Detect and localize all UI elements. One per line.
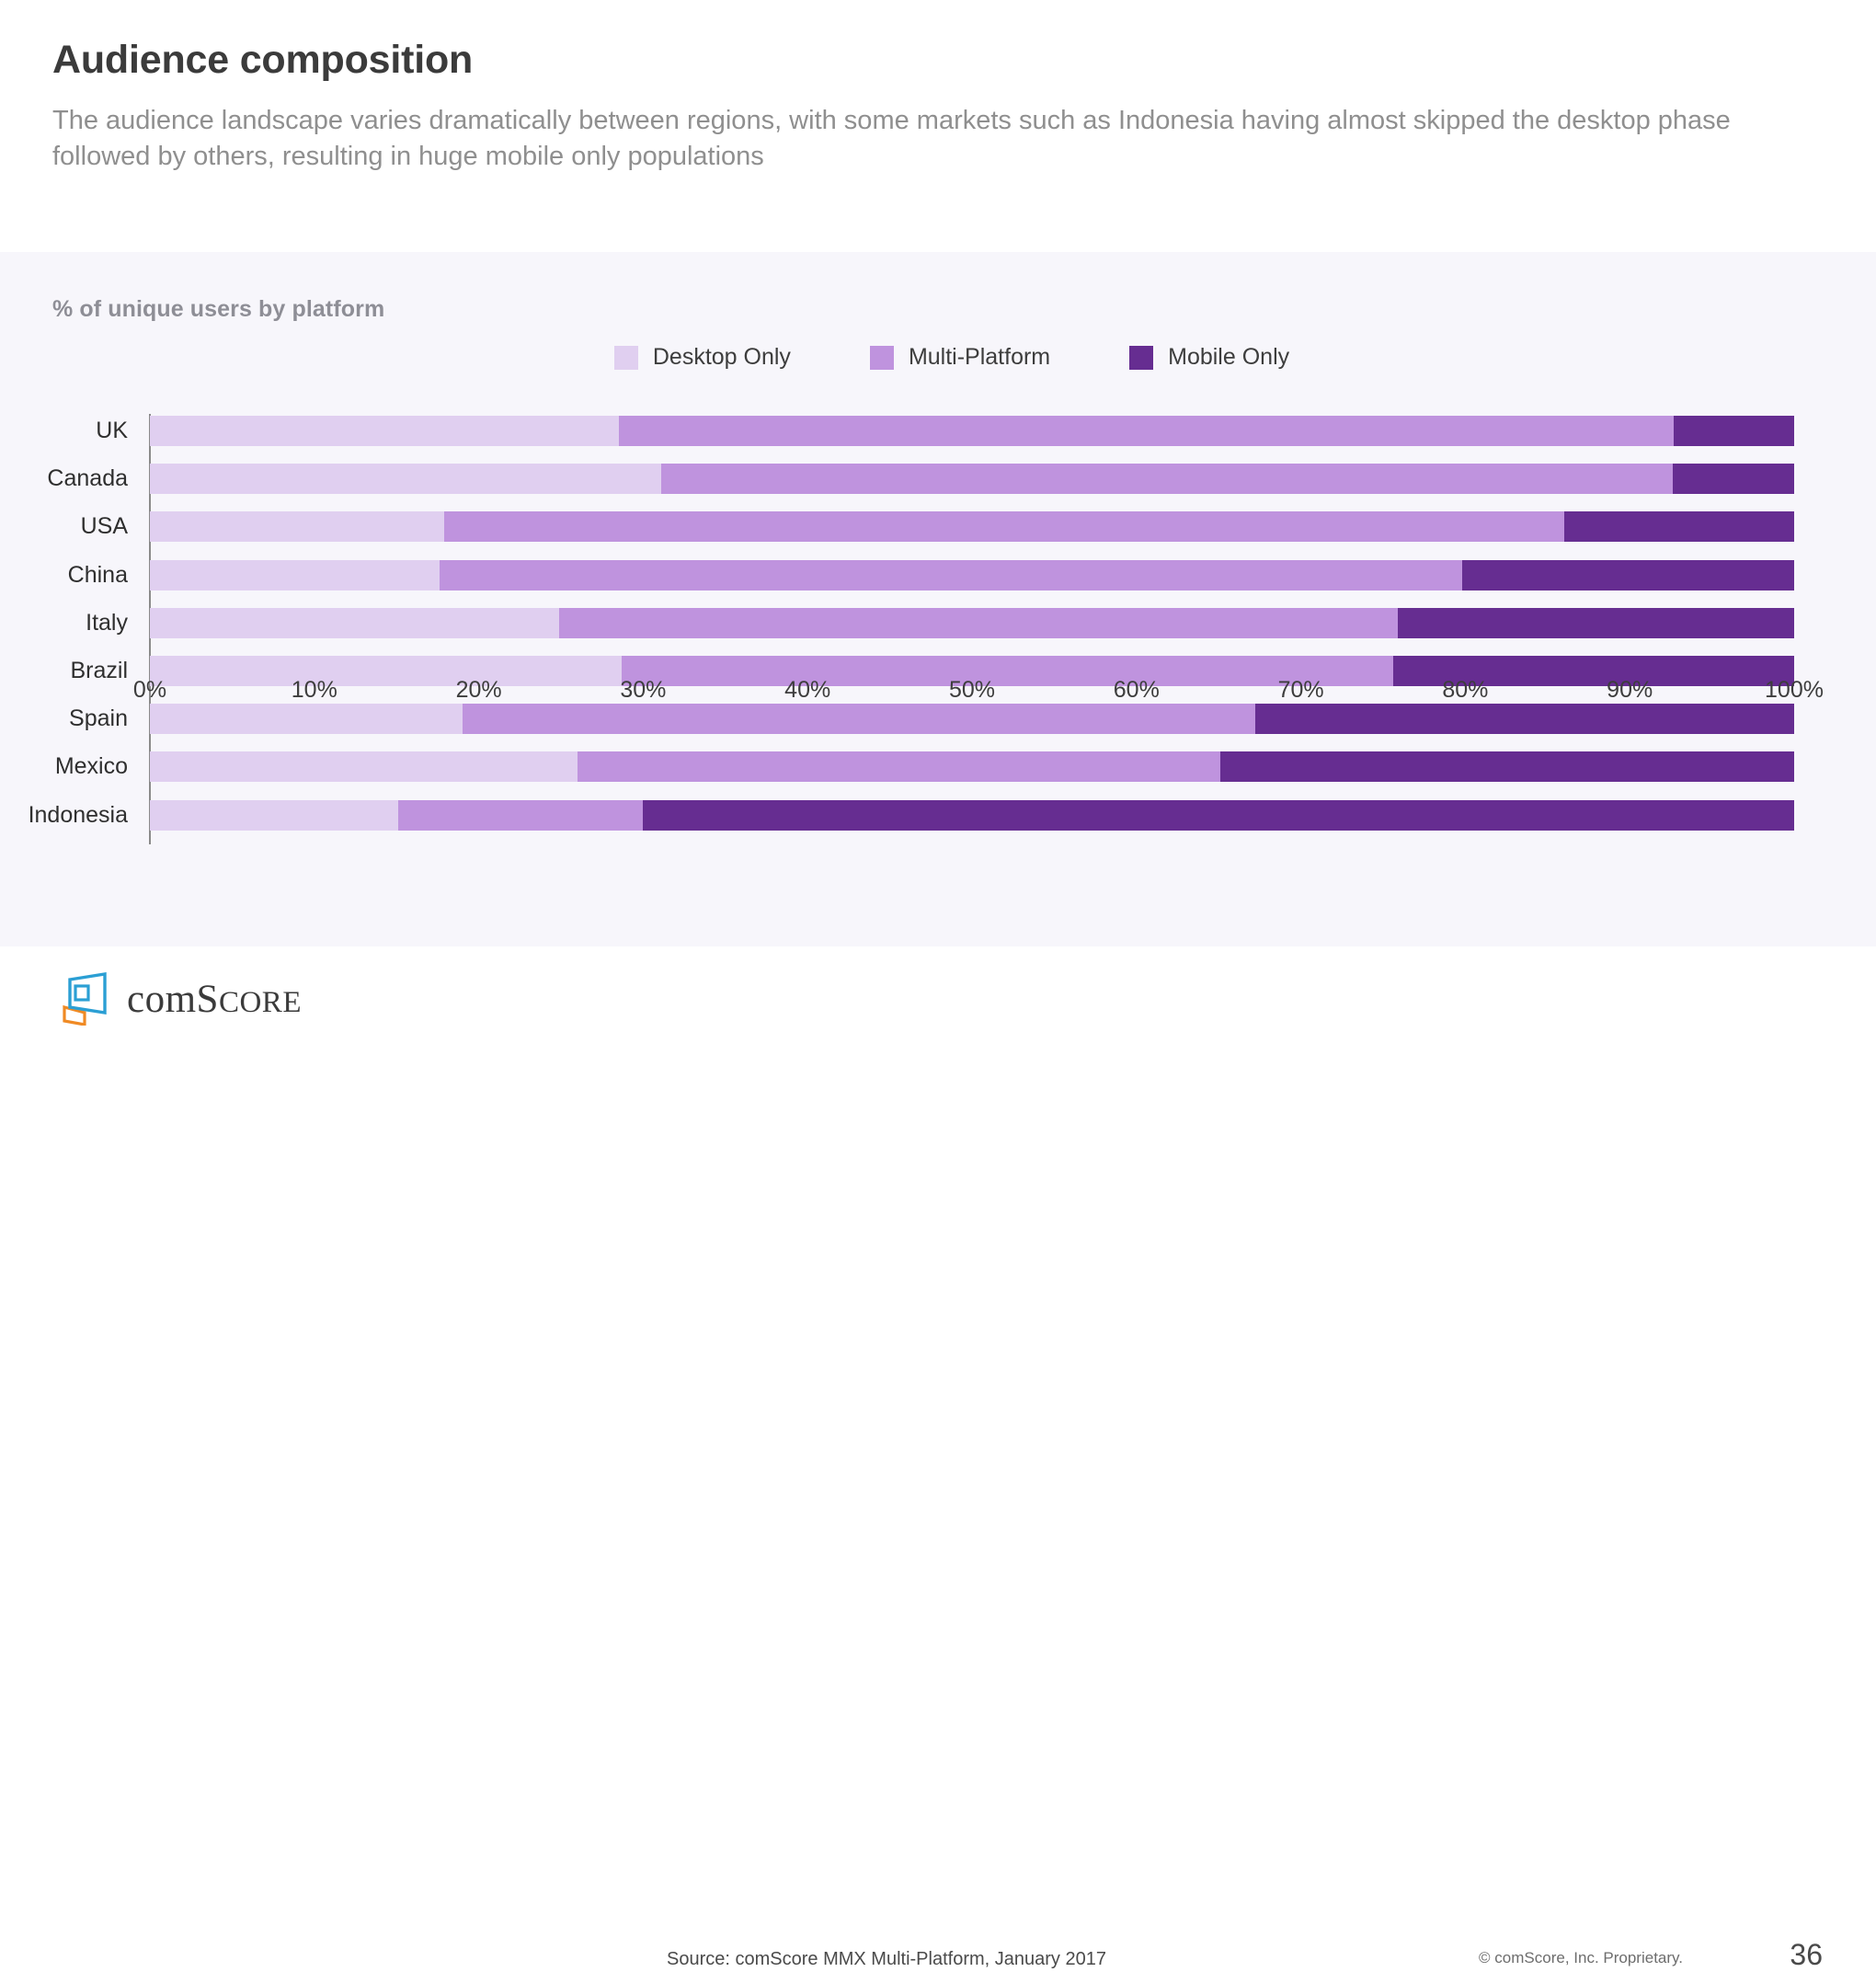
- x-axis-tick: 60%: [1114, 677, 1160, 704]
- bar-row[interactable]: Italy: [150, 608, 1794, 638]
- chart-panel: % of unique users by platform Desktop On…: [0, 252, 1876, 946]
- page-number: 36: [1790, 1938, 1823, 1972]
- source-note: Source: comScore MMX Multi-Platform, Jan…: [667, 1949, 1106, 1970]
- x-axis-tick: 100%: [1765, 677, 1824, 704]
- x-axis-tick: 10%: [292, 677, 337, 704]
- bar-segment-multi-platform[interactable]: [444, 511, 1564, 542]
- comscore-logo: comSCORE: [57, 972, 302, 1026]
- bar-segment-desktop-only[interactable]: [150, 608, 559, 638]
- brand-core: CORE: [219, 986, 302, 1019]
- bar-segment-mobile-only[interactable]: [1462, 560, 1794, 590]
- x-axis-tick: 50%: [949, 677, 995, 704]
- bar-segment-multi-platform[interactable]: [398, 800, 643, 831]
- bar-segment-desktop-only[interactable]: [150, 560, 440, 590]
- y-axis-label-usa: USA: [0, 511, 128, 542]
- bar-rows: UKCanadaUSAChinaItalyBrazilSpainMexicoIn…: [150, 414, 1794, 850]
- bar-segment-multi-platform[interactable]: [578, 751, 1220, 782]
- chart-heading: % of unique users by platform: [52, 296, 384, 323]
- bar-segment-desktop-only[interactable]: [150, 751, 578, 782]
- brand-com: com: [127, 978, 197, 1021]
- page-title: Audience composition: [52, 39, 1825, 81]
- y-axis-label-uk: UK: [0, 416, 128, 446]
- bar-segment-mobile-only[interactable]: [643, 800, 1794, 831]
- y-axis-label-china: China: [0, 560, 128, 590]
- legend-swatch-icon: [870, 346, 894, 370]
- comscore-wordmark: comSCORE: [127, 980, 302, 1019]
- y-axis-label-canada: Canada: [0, 464, 128, 494]
- legend-swatch-icon: [1129, 346, 1153, 370]
- x-axis-tick: 40%: [784, 677, 830, 704]
- bar-segment-desktop-only[interactable]: [150, 416, 619, 446]
- x-axis-tick: 20%: [456, 677, 502, 704]
- legend-item-multi-platform[interactable]: Multi-Platform: [870, 344, 1050, 371]
- bar-row[interactable]: Mexico: [150, 751, 1794, 782]
- chart-plot-area: UKCanadaUSAChinaItalyBrazilSpainMexicoIn…: [150, 414, 1794, 850]
- y-axis-label-italy: Italy: [0, 608, 128, 638]
- bar-segment-desktop-only[interactable]: [150, 464, 661, 494]
- bar-segment-multi-platform[interactable]: [440, 560, 1462, 590]
- bar-segment-mobile-only[interactable]: [1220, 751, 1794, 782]
- legend-label: Mobile Only: [1168, 344, 1289, 371]
- slide-header: Audience composition The audience landsc…: [0, 0, 1876, 252]
- legend-swatch-icon: [614, 346, 638, 370]
- y-axis-label-mexico: Mexico: [0, 751, 128, 782]
- bar-segment-multi-platform[interactable]: [619, 416, 1675, 446]
- bar-segment-mobile-only[interactable]: [1674, 416, 1794, 446]
- bar-segment-mobile-only[interactable]: [1673, 464, 1794, 494]
- bar-segment-mobile-only[interactable]: [1564, 511, 1794, 542]
- x-axis-tick: 80%: [1442, 677, 1488, 704]
- page-subtitle: The audience landscape varies dramatical…: [52, 103, 1790, 174]
- copyright-note: © comScore, Inc. Proprietary.: [1479, 1949, 1683, 1967]
- legend-item-desktop-only[interactable]: Desktop Only: [614, 344, 791, 371]
- legend-label: Desktop Only: [653, 344, 791, 371]
- comscore-logo-icon: [57, 972, 114, 1026]
- bar-segment-multi-platform[interactable]: [559, 608, 1398, 638]
- y-axis-label-indonesia: Indonesia: [0, 800, 128, 831]
- slide-footer: comSCORE Source: comScore MMX Multi-Plat…: [0, 946, 1876, 1056]
- x-axis-tick: 90%: [1607, 677, 1653, 704]
- legend-label: Multi-Platform: [909, 344, 1050, 371]
- bar-row[interactable]: USA: [150, 511, 1794, 542]
- y-axis-label-spain: Spain: [0, 704, 128, 734]
- bar-segment-multi-platform[interactable]: [661, 464, 1673, 494]
- brand-s: S: [197, 978, 219, 1021]
- bar-segment-desktop-only[interactable]: [150, 800, 398, 831]
- x-axis-tick: 30%: [620, 677, 666, 704]
- bar-row[interactable]: China: [150, 560, 1794, 590]
- chart-legend: Desktop OnlyMulti-PlatformMobile Only: [0, 344, 1876, 371]
- bar-row[interactable]: Canada: [150, 464, 1794, 494]
- x-axis: 0%10%20%30%40%50%60%70%80%90%100%: [150, 677, 1794, 714]
- bar-row[interactable]: Indonesia: [150, 800, 1794, 831]
- x-axis-tick: 70%: [1278, 677, 1324, 704]
- legend-item-mobile-only[interactable]: Mobile Only: [1129, 344, 1289, 371]
- bar-segment-desktop-only[interactable]: [150, 511, 444, 542]
- bar-segment-mobile-only[interactable]: [1398, 608, 1794, 638]
- y-axis-label-brazil: Brazil: [0, 656, 128, 686]
- x-axis-tick: 0%: [133, 677, 166, 704]
- bar-row[interactable]: UK: [150, 416, 1794, 446]
